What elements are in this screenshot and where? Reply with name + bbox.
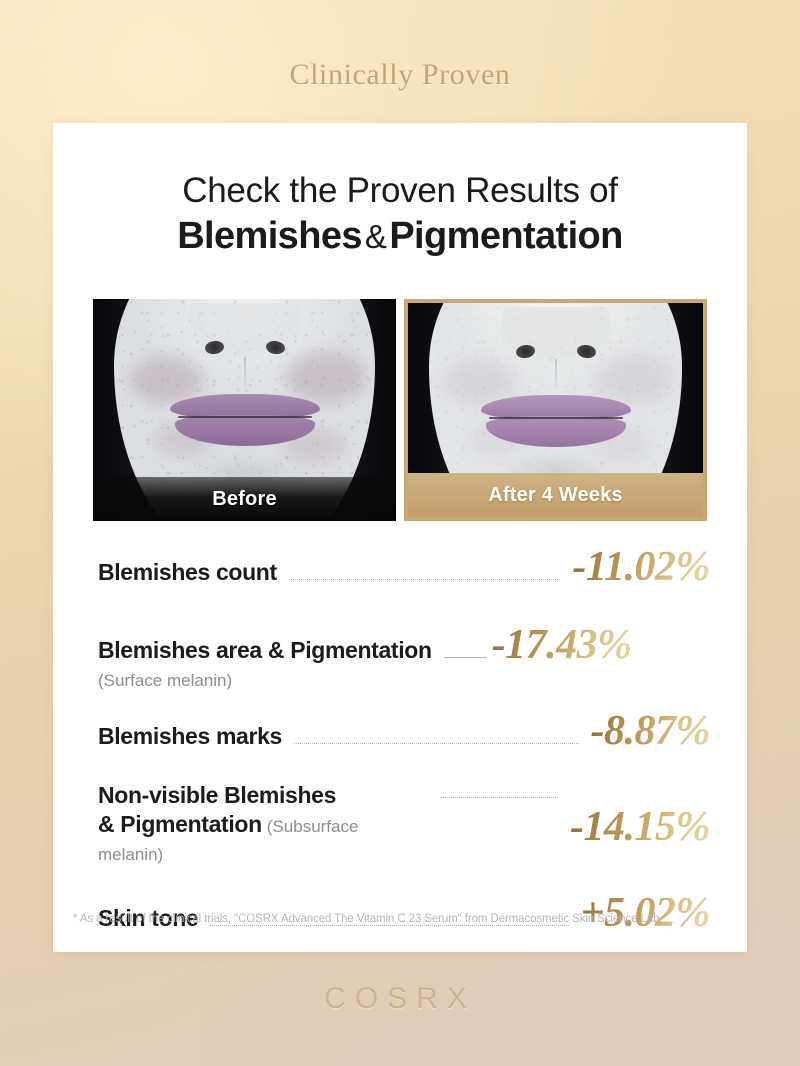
before-caption: Before bbox=[93, 477, 396, 521]
philtrum bbox=[244, 357, 246, 387]
after-photo: After 4 Weeks bbox=[404, 299, 707, 521]
result-label: Non-visible Blemishes & Pigmentation(Sub… bbox=[98, 781, 428, 867]
result-row: Blemishes area & Pigmentation -17.43% (S… bbox=[98, 621, 710, 691]
title-line-2: Blemishes&Pigmentation bbox=[53, 213, 747, 261]
title-line-1: Check the Proven Results of bbox=[53, 170, 747, 211]
before-photo: Before bbox=[93, 299, 396, 521]
result-value: -17.43% bbox=[492, 621, 632, 669]
result-row: Blemishes marks -8.87% bbox=[98, 707, 710, 755]
eyebrow-heading: Clinically Proven bbox=[0, 58, 800, 92]
result-label-wrap: Non-visible Blemishes & Pigmentation(Sub… bbox=[98, 781, 428, 867]
result-value: -14.15% bbox=[570, 803, 710, 851]
footnote: * As a result of the clinical trials, "C… bbox=[73, 913, 733, 925]
leader-line bbox=[444, 657, 486, 658]
leader-line bbox=[210, 925, 568, 926]
leader-line bbox=[294, 743, 579, 744]
nostril-right bbox=[576, 344, 597, 360]
result-value: -8.87% bbox=[591, 707, 710, 755]
before-after-photos: Before bbox=[93, 299, 707, 521]
result-label: Blemishes marks bbox=[98, 722, 282, 751]
title-ampersand: & bbox=[362, 218, 389, 255]
result-value: -11.02% bbox=[572, 543, 710, 591]
philtrum bbox=[555, 359, 557, 389]
results-card: Check the Proven Results of Blemishes&Pi… bbox=[53, 123, 747, 952]
leader-line bbox=[289, 579, 561, 580]
results-list: Blemishes count -11.02% Blemishes area &… bbox=[98, 543, 710, 937]
lips bbox=[170, 394, 320, 446]
result-row: Blemishes count -11.02% bbox=[98, 543, 710, 591]
lip-line bbox=[178, 416, 312, 418]
result-label-line-1: Non-visible Blemishes bbox=[98, 782, 336, 808]
after-caption: After 4 Weeks bbox=[408, 473, 703, 517]
nostril-left bbox=[515, 344, 536, 360]
nostril-left bbox=[204, 340, 225, 356]
result-sublabel: (Surface melanin) bbox=[98, 671, 710, 691]
leader-line bbox=[440, 797, 558, 798]
result-label: Blemishes area & Pigmentation bbox=[98, 636, 432, 665]
card-title: Check the Proven Results of Blemishes&Pi… bbox=[53, 170, 747, 261]
lip-line bbox=[489, 417, 623, 419]
infographic-page: Clinically Proven Check the Proven Resul… bbox=[0, 0, 800, 1066]
result-label: Blemishes count bbox=[98, 558, 277, 587]
title-pigmentation: Pigmentation bbox=[389, 215, 622, 257]
nostril-right bbox=[265, 340, 286, 356]
result-row: Non-visible Blemishes & Pigmentation(Sub… bbox=[98, 781, 710, 867]
lower-lip bbox=[486, 416, 626, 447]
result-label-line-2: & Pigmentation bbox=[98, 811, 262, 837]
brand-logo: COSRX bbox=[0, 982, 800, 1016]
lower-lip bbox=[175, 415, 315, 446]
lips bbox=[481, 395, 631, 447]
title-blemishes: Blemishes bbox=[177, 215, 362, 257]
